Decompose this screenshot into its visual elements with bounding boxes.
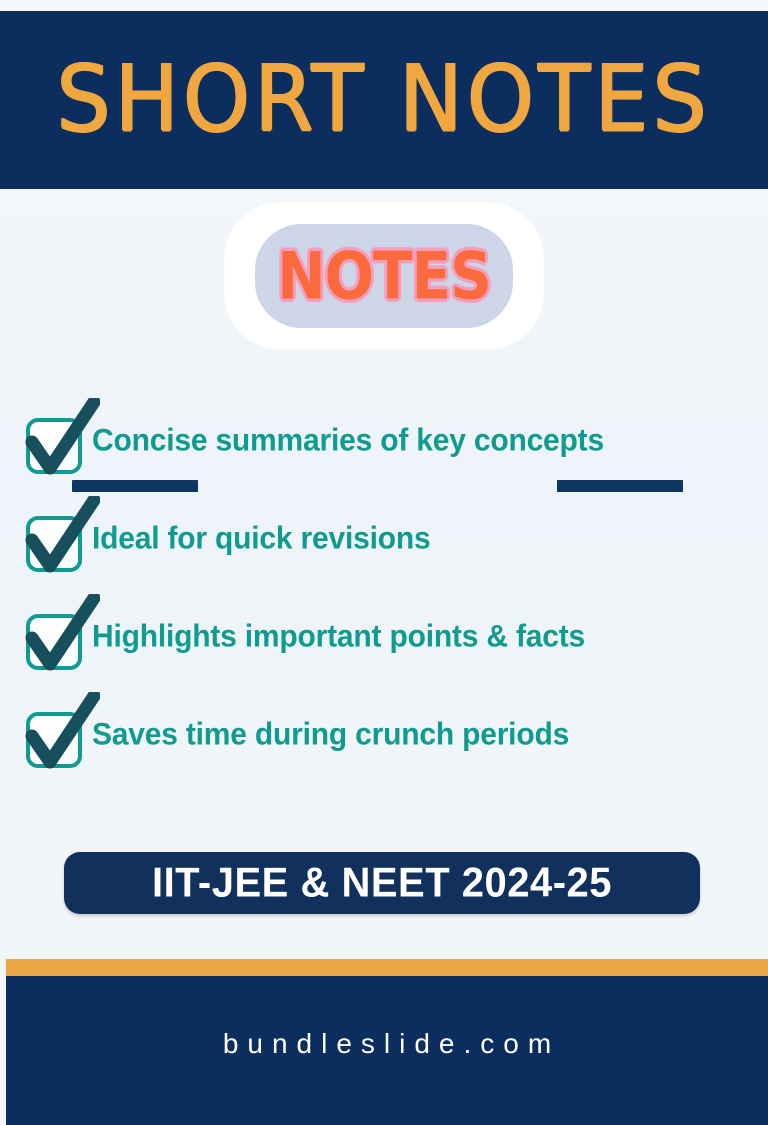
notes-badge-label: NOTES <box>255 218 513 334</box>
footer-accent-bar <box>6 959 768 976</box>
checkbox-checked-icon[interactable] <box>0 490 92 588</box>
footer-banner: bundleslide.com <box>6 976 768 1125</box>
check-icon <box>24 496 100 582</box>
checkbox-checked-icon[interactable] <box>0 588 92 686</box>
list-item: Highlights important points & facts <box>0 588 768 686</box>
list-item-label: Highlights important points & facts <box>92 619 585 655</box>
exam-banner: IIT-JEE & NEET 2024-25 <box>64 852 700 914</box>
list-item-label: Saves time during crunch periods <box>92 717 569 753</box>
checkbox-checked-icon[interactable] <box>0 392 92 490</box>
header-banner: SHORT NOTES <box>0 11 768 189</box>
poster-root: 2 <box>0 0 768 1125</box>
check-icon <box>24 692 100 778</box>
feature-checklist: Concise summaries of key concepts Ideal … <box>0 392 768 784</box>
checkbox-checked-icon[interactable] <box>0 686 92 784</box>
top-strip <box>0 0 768 11</box>
check-icon <box>24 594 100 680</box>
list-item: Concise summaries of key concepts <box>0 392 768 490</box>
check-icon <box>24 398 100 484</box>
list-item: Saves time during crunch periods <box>0 686 768 784</box>
exam-banner-label: IIT-JEE & NEET 2024-25 <box>152 859 612 906</box>
list-item: Ideal for quick revisions <box>0 490 768 588</box>
page-title: SHORT NOTES <box>57 54 711 146</box>
list-item-label: Concise summaries of key concepts <box>92 423 604 459</box>
list-item-label: Ideal for quick revisions <box>92 521 430 557</box>
footer-website: bundleslide.com <box>223 1028 560 1060</box>
